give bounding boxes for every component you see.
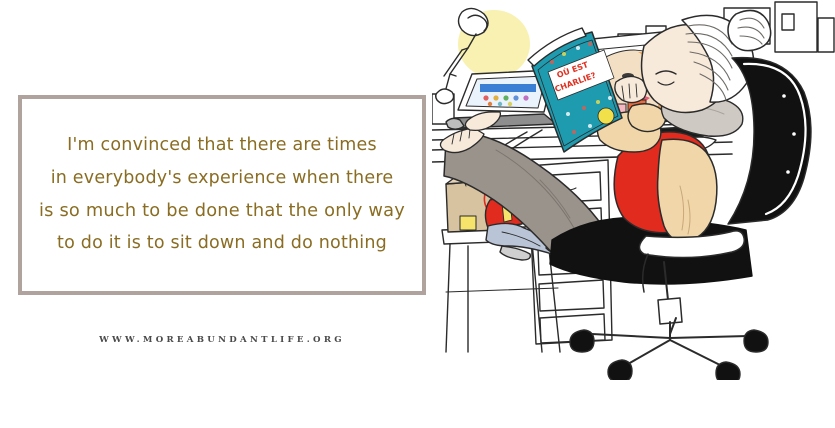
quote-line-3: is so much to be done that the only way	[39, 195, 405, 228]
office-illustration: OÙ EST CHARLIE?	[432, 0, 835, 380]
poster-canvas: I'm convinced that there are times in ev…	[0, 0, 835, 428]
quote-frame: I'm convinced that there are times in ev…	[18, 95, 426, 295]
quote-line-1: I'm convinced that there are times	[67, 130, 377, 163]
quote-line-4: to do it is to sit down and do nothing	[57, 228, 387, 261]
site-url: WWW.MOREABUNDANTLIFE.ORG	[18, 335, 426, 345]
quote-line-2: in everybody's experience when there	[51, 162, 394, 195]
